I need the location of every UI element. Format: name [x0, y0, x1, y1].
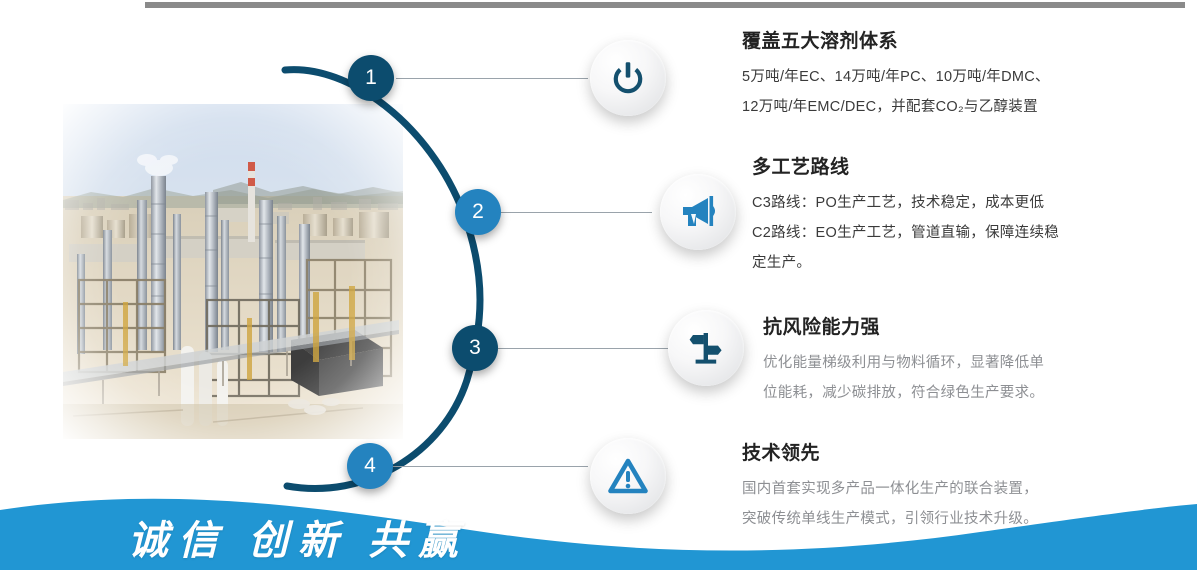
slide-canvas: 1 2 3 4	[0, 0, 1197, 570]
icon-disc-2[interactable]	[660, 174, 736, 250]
power-icon	[609, 59, 647, 97]
step-line-3-2: 位能耗，减少碳排放，符合绿色生产要求。	[763, 378, 1044, 408]
connector-line-3	[498, 348, 668, 349]
step-number-2[interactable]: 2	[455, 189, 501, 235]
step-title-2: 多工艺路线	[752, 152, 1059, 179]
step-number-2-label: 2	[472, 200, 484, 224]
step-line-3-1: 优化能量梯级利用与物料循环，显著降低单	[763, 348, 1044, 378]
step-line-2-1: C3路线：PO生产工艺，技术稳定，成本更低	[752, 188, 1059, 218]
top-divider-rule	[145, 2, 1185, 8]
company-slogan: 诚信 创新 共赢	[128, 508, 468, 566]
icon-disc-3[interactable]	[668, 310, 744, 386]
connector-line-2	[500, 212, 652, 213]
step-text-block-3: 抗风险能力强 优化能量梯级利用与物料循环，显著降低单 位能耗，减少碳排放，符合绿…	[763, 312, 1044, 408]
connector-line-4	[392, 466, 588, 467]
megaphone-icon	[678, 193, 718, 231]
step-title-3: 抗风险能力强	[763, 312, 1044, 339]
signpost-icon	[687, 329, 725, 367]
step-line-1-2: 12万吨/年EMC/DEC，并配套CO₂与乙醇装置	[742, 92, 1050, 122]
step-number-1[interactable]: 1	[348, 55, 394, 101]
step-number-1-label: 1	[365, 66, 377, 90]
step-line-2-2: C2路线：EO生产工艺，管道直输，保障连续稳	[752, 218, 1059, 248]
step-line-2-3: 定生产。	[752, 248, 1059, 278]
step-number-3-label: 3	[469, 336, 481, 360]
step-text-block-1: 覆盖五大溶剂体系 5万吨/年EC、14万吨/年PC、10万吨/年DMC、 12万…	[742, 26, 1050, 122]
step-line-1-1: 5万吨/年EC、14万吨/年PC、10万吨/年DMC、	[742, 62, 1050, 92]
icon-disc-1[interactable]	[590, 40, 666, 116]
step-title-1: 覆盖五大溶剂体系	[742, 26, 1050, 53]
step-number-3[interactable]: 3	[452, 325, 498, 371]
connector-line-1	[396, 78, 588, 79]
timeline-arc	[255, 30, 545, 500]
step-number-4-label: 4	[364, 454, 376, 478]
step-title-4: 技术领先	[742, 438, 1038, 465]
step-text-block-2: 多工艺路线 C3路线：PO生产工艺，技术稳定，成本更低 C2路线：EO生产工艺，…	[752, 152, 1059, 278]
